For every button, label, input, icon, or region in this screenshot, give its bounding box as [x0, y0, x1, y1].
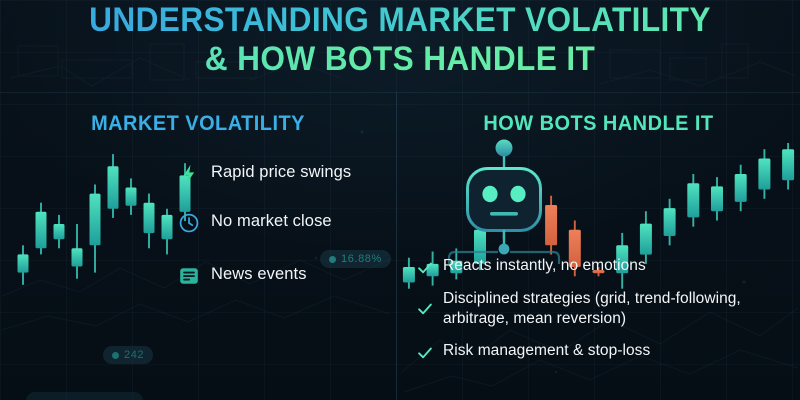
feature-row-rapid-price-swings: Rapid price swings [178, 162, 393, 185]
page-title: UNDERSTANDING MARKET VOLATILITY & HOW BO… [0, 2, 800, 77]
volume-count-value: 242 [124, 349, 144, 361]
check-icon [417, 260, 433, 276]
feature-row-no-market-close: No market close [178, 211, 393, 234]
feature-row-news-events: News events [178, 264, 393, 287]
card-window-bar [26, 392, 143, 400]
adoption-spike-card: ADOPTION SPIKE [26, 392, 143, 400]
check-icon [417, 345, 433, 361]
news-document-icon [178, 265, 200, 287]
clock-icon [178, 212, 200, 234]
left-panel: MARKET VOLATILITY 16.88% 242 [0, 92, 396, 400]
right-panel-heading: HOW BOTS HANDLE IT [407, 112, 790, 136]
title-line-1: UNDERSTANDING MARKET VOLATILITY [28, 2, 772, 39]
left-volatility-chart [14, 144, 194, 304]
feature-label-no-market-close: No market close [211, 211, 332, 231]
bullet-label-disciplined-strategies: Disciplined strategies (grid, trend-foll… [443, 289, 800, 328]
check-icon [417, 301, 433, 317]
volume-count-badge: 242 [103, 346, 153, 364]
status-dot-icon [112, 352, 119, 359]
header-divider [0, 92, 800, 93]
bullet-row-disciplined-strategies: Disciplined strategies (grid, trend-foll… [417, 289, 800, 328]
right-panel: HOW BOTS HANDLE IT [397, 92, 800, 400]
bots-bullet-list: Reacts instantly, no emotions Discipline… [417, 256, 800, 361]
title-line-2: & HOW BOTS HANDLE IT [28, 41, 772, 78]
left-panel-heading: MARKET VOLATILITY [10, 112, 386, 136]
infographic-canvas: UNDERSTANDING MARKET VOLATILITY & HOW BO… [0, 0, 800, 400]
volatility-feature-list: Rapid price swings No market close News … [178, 162, 393, 287]
bullet-row-risk-management: Risk management & stop-loss [417, 341, 800, 361]
bullet-row-reacts-instantly: Reacts instantly, no emotions [417, 256, 800, 276]
feature-label-rapid-price-swings: Rapid price swings [211, 162, 351, 182]
bullet-label-reacts-instantly: Reacts instantly, no emotions [443, 256, 646, 276]
robot-icon [445, 136, 563, 264]
feature-label-news-events: News events [211, 264, 307, 284]
panel-divider [396, 92, 397, 400]
bullet-label-risk-management: Risk management & stop-loss [443, 341, 650, 361]
lightning-bolt-icon [178, 163, 200, 185]
